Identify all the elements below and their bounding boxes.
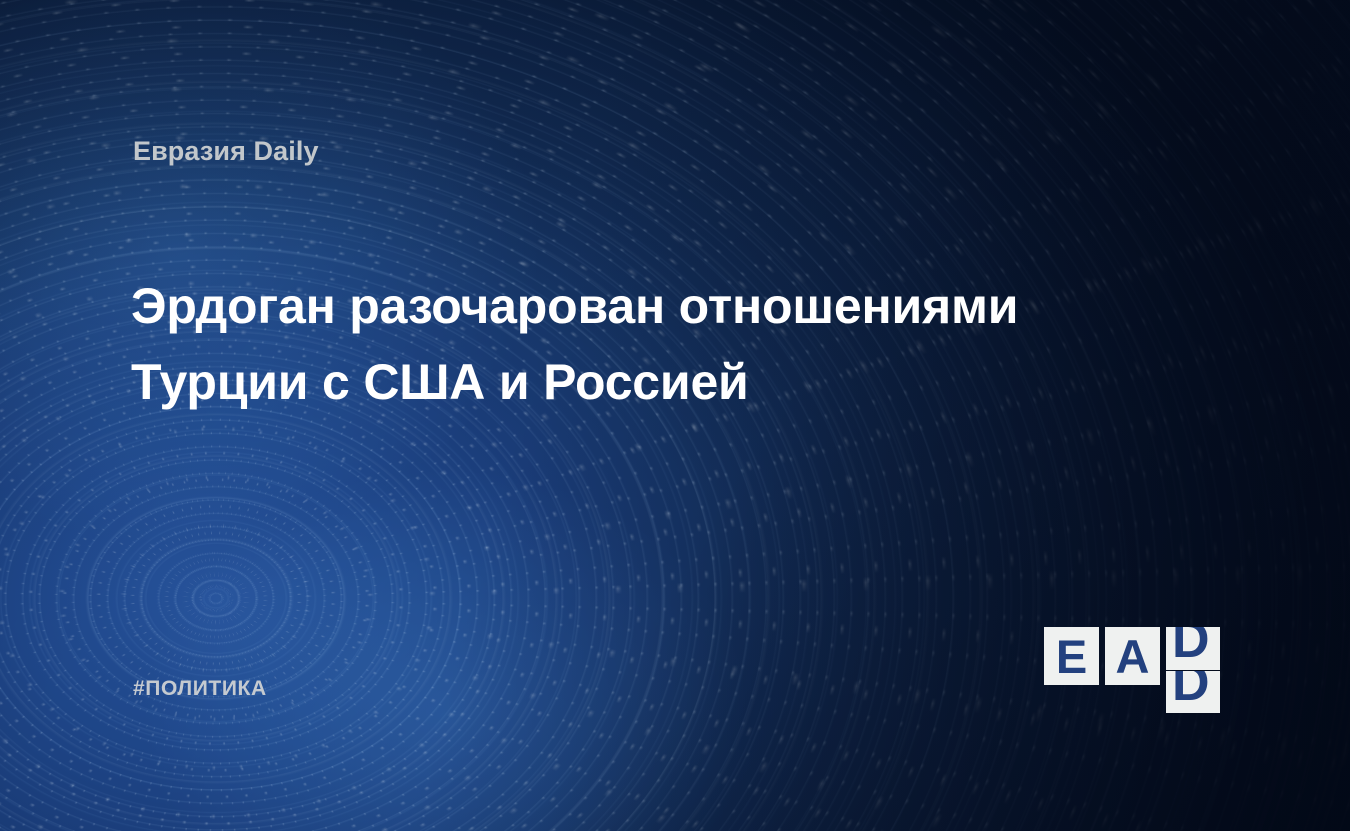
site-logo-text: Евразия Daily [133, 136, 319, 167]
ead-logo-tile-e: E [1044, 627, 1099, 685]
ead-logo-mark: E A D D [1044, 627, 1220, 713]
article-headline: Эрдоган разочарован отношениями Турции с… [131, 268, 1131, 420]
ead-letter-e: E [1044, 627, 1099, 685]
card-content: Евразия Daily Эрдоган разочарован отноше… [0, 0, 1350, 831]
ead-letter-d-bottom: D [1172, 671, 1210, 709]
ead-logo-tile-d-bottom: D [1166, 671, 1220, 713]
article-share-card: Евразия Daily Эрдоган разочарован отноше… [0, 0, 1350, 831]
ead-logo-tile-a: A [1105, 627, 1160, 685]
ead-logo-tile-d-top: D [1166, 627, 1220, 670]
category-tag: #ПОЛИТИКА [133, 677, 267, 701]
ead-letter-d-top: D [1172, 627, 1210, 666]
ead-letter-a: A [1105, 627, 1160, 685]
